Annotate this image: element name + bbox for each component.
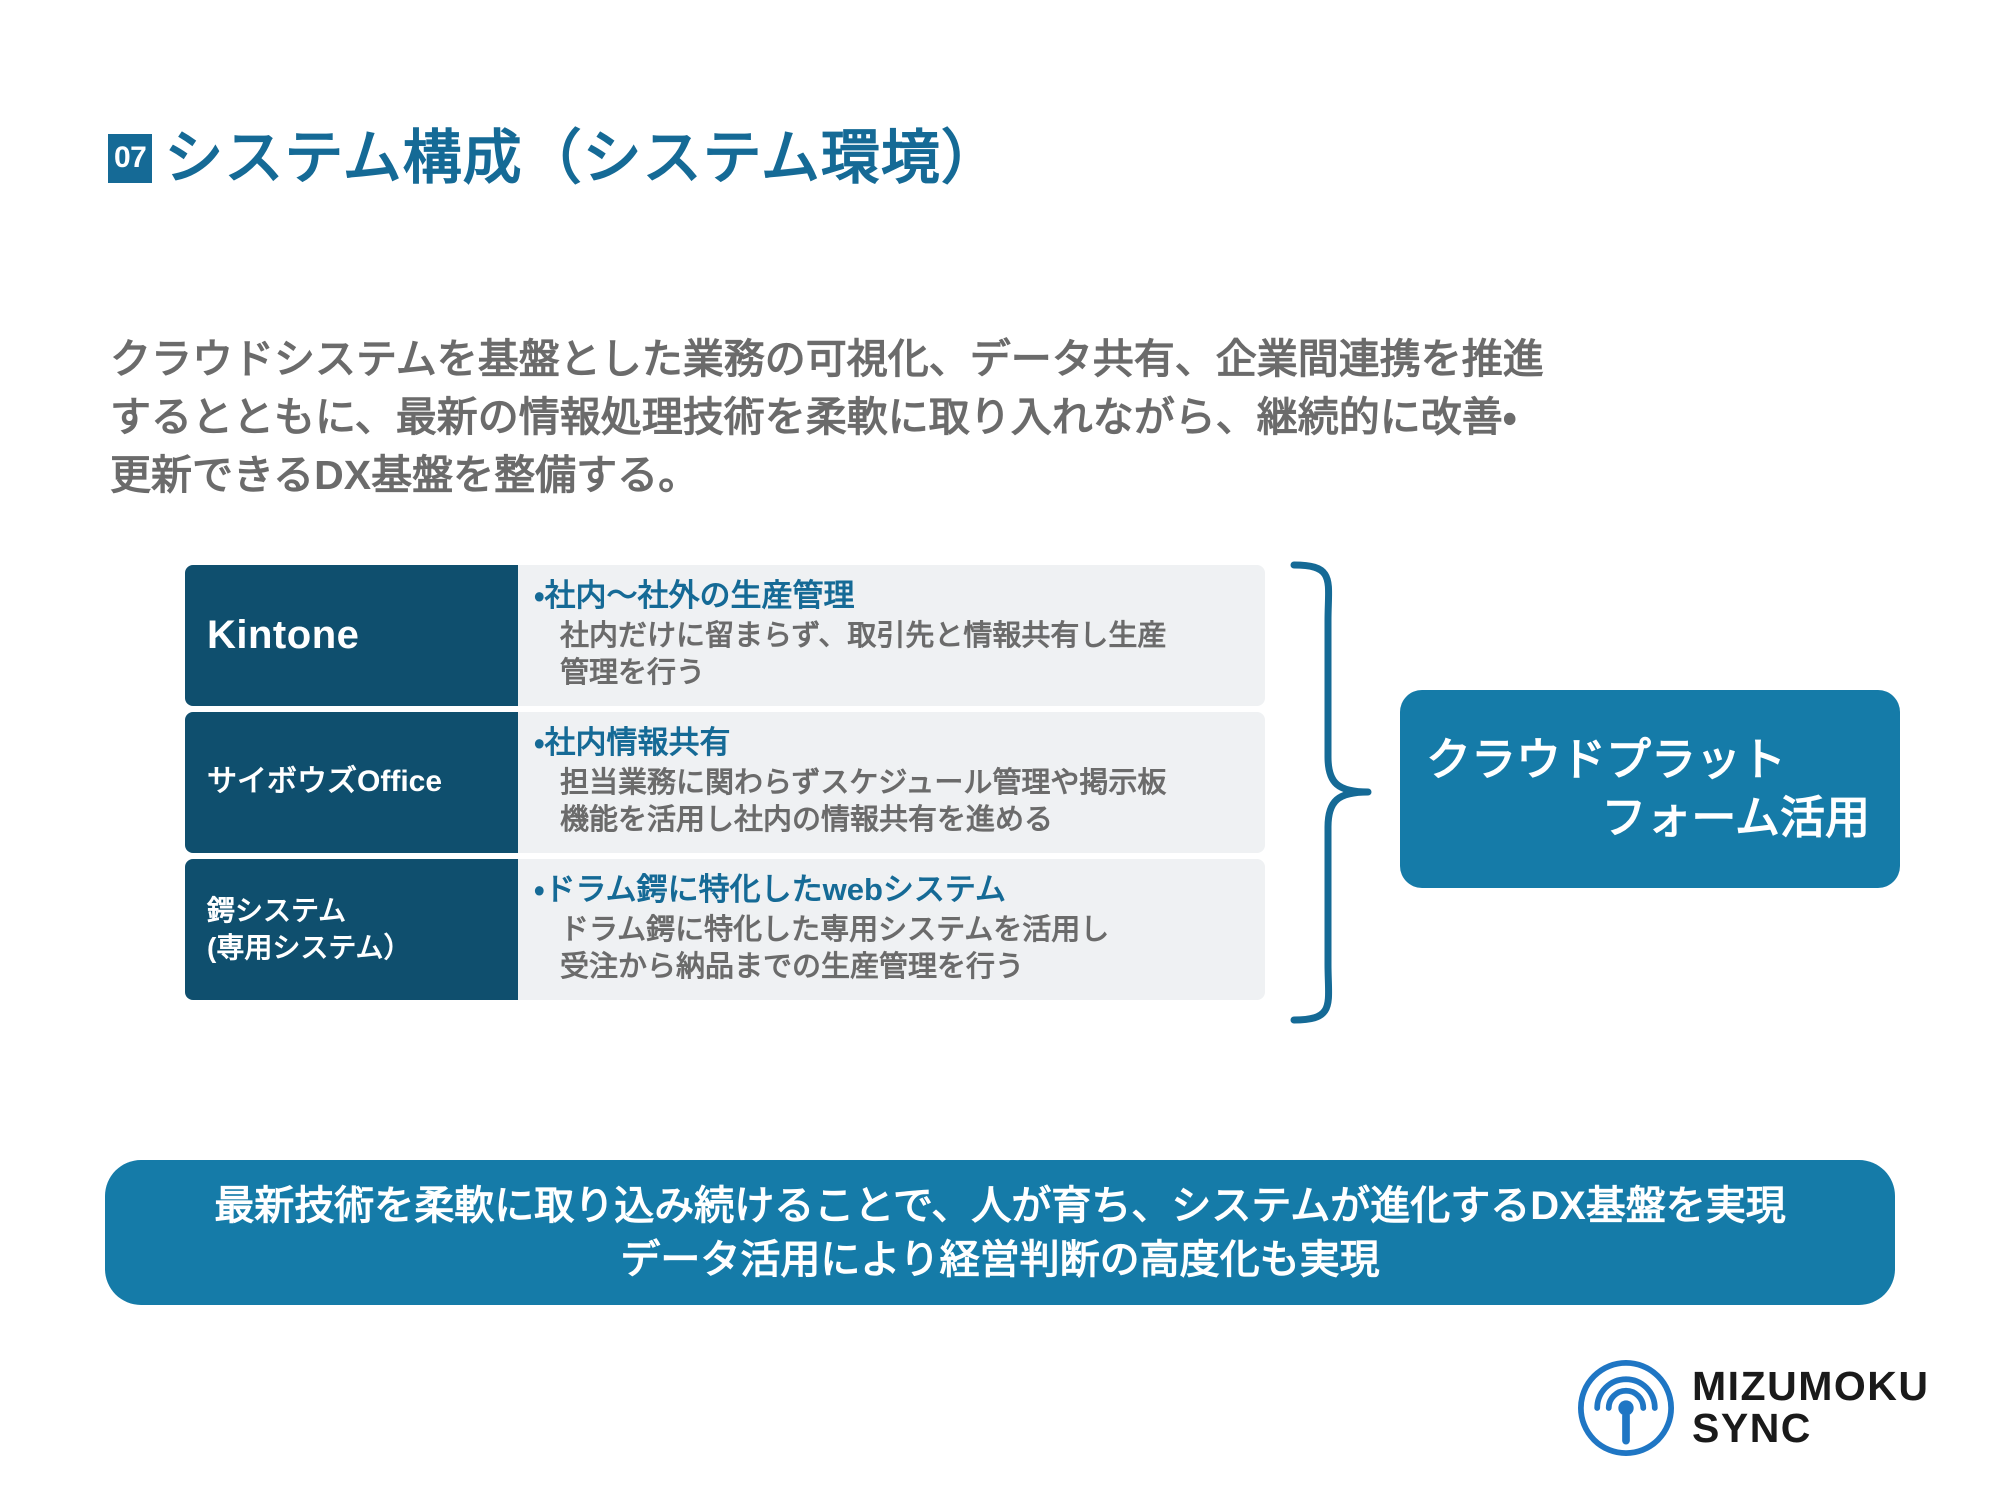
detail-description: 社内だけに留まらず、取引先と情報共有し生産 管理を行う — [534, 618, 1247, 692]
system-detail-cell: ・ドラム鍔に特化したwebシステム ドラム鍔に特化した専用システムを活用し 受注… — [518, 859, 1265, 1000]
detail-description-line-2: 機能を活用し社内の情報共有を進める — [560, 802, 1247, 839]
system-name-cell: Kintone — [185, 565, 518, 706]
detail-description: 担当業務に関わらずスケジュール管理や掲示板 機能を活用し社内の情報共有を進める — [534, 765, 1247, 839]
slide-number-badge: 07 — [108, 134, 152, 183]
cloud-platform-callout: クラウドプラット フォーム活用 — [1400, 690, 1900, 888]
summary-banner: 最新技術を柔軟に取り込み続けることで、人が育ち、システムが進化するDX基盤を実現… — [105, 1160, 1895, 1305]
system-name-cell: サイボウズOffice — [185, 712, 518, 853]
company-logo-line-1: MIZUMOKU — [1692, 1366, 1929, 1408]
company-logo-line-2: SYNC — [1692, 1408, 1929, 1450]
detail-description-line-1: 社内だけに留まらず、取引先と情報共有し生産 — [560, 618, 1247, 655]
system-detail-cell: ・社内～社外の生産管理 社内だけに留まらず、取引先と情報共有し生産 管理を行う — [518, 565, 1265, 706]
detail-description-line-1: 担当業務に関わらずスケジュール管理や掲示板 — [560, 765, 1247, 802]
slide-canvas: 07 システム構成（システム環境） クラウドシステムを基盤とした業務の可視化、デ… — [0, 0, 2000, 1500]
system-detail-cell: ・社内情報共有 担当業務に関わらずスケジュール管理や掲示板 機能を活用し社内の情… — [518, 712, 1265, 853]
system-name-label: サイボウズOffice — [207, 764, 442, 800]
lead-paragraph: クラウドシステムを基盤とした業務の可視化、データ共有、企業間連携を推進 するとと… — [110, 330, 1710, 505]
table-row: Kintone ・社内～社外の生産管理 社内だけに留まらず、取引先と情報共有し生… — [185, 565, 1265, 706]
page-title: 07 システム構成（システム環境） — [108, 128, 1001, 190]
mizumoku-sync-mark-icon — [1578, 1360, 1674, 1456]
system-name-label-line-1: 鍔システム — [207, 892, 412, 930]
system-name-label-line-2: (専用システム） — [207, 929, 412, 967]
callout-line-2: フォーム活用 — [1426, 789, 1870, 847]
detail-description: ドラム鍔に特化した専用システムを活用し 受注から納品までの生産管理を行う — [534, 912, 1247, 986]
summary-banner-line-2: データ活用により経営判断の高度化も実現 — [620, 1233, 1379, 1287]
lead-line-2: するとともに、最新の情報処理技術を柔軟に取り入れながら、継続的に改善・ — [110, 388, 1710, 446]
company-logo: MIZUMOKU SYNC — [1578, 1360, 1929, 1456]
detail-headline: ・ドラム鍔に特化したwebシステム — [534, 871, 1247, 910]
lead-line-1: クラウドシステムを基盤とした業務の可視化、データ共有、企業間連携を推進 — [110, 330, 1710, 388]
curly-brace-icon — [1290, 561, 1380, 1024]
detail-headline: ・社内情報共有 — [534, 724, 1247, 763]
lead-line-3: 更新できるDX基盤を整備する。 — [110, 446, 1710, 504]
system-name-cell: 鍔システム (専用システム） — [185, 859, 518, 1000]
company-logo-text: MIZUMOKU SYNC — [1692, 1366, 1929, 1450]
system-name-label: 鍔システム (専用システム） — [207, 892, 412, 967]
page-title-text: システム構成（システム環境） — [164, 128, 1000, 190]
table-row: サイボウズOffice ・社内情報共有 担当業務に関わらずスケジュール管理や掲示… — [185, 712, 1265, 853]
detail-description-line-1: ドラム鍔に特化した専用システムを活用し — [560, 912, 1247, 949]
system-name-label: Kintone — [207, 611, 359, 659]
callout-line-1: クラウドプラット — [1426, 731, 1870, 789]
detail-description-line-2: 管理を行う — [560, 655, 1247, 692]
detail-description-line-2: 受注から納品までの生産管理を行う — [560, 949, 1247, 986]
detail-headline: ・社内～社外の生産管理 — [534, 577, 1247, 616]
table-row: 鍔システム (専用システム） ・ドラム鍔に特化したwebシステム ドラム鍔に特化… — [185, 859, 1265, 1000]
system-matrix: Kintone ・社内～社外の生産管理 社内だけに留まらず、取引先と情報共有し生… — [185, 565, 1265, 1000]
system-diagram: Kintone ・社内～社外の生産管理 社内だけに留まらず、取引先と情報共有し生… — [185, 565, 1875, 1020]
summary-banner-line-1: 最新技術を柔軟に取り込み続けることで、人が育ち、システムが進化するDX基盤を実現 — [214, 1179, 1786, 1233]
